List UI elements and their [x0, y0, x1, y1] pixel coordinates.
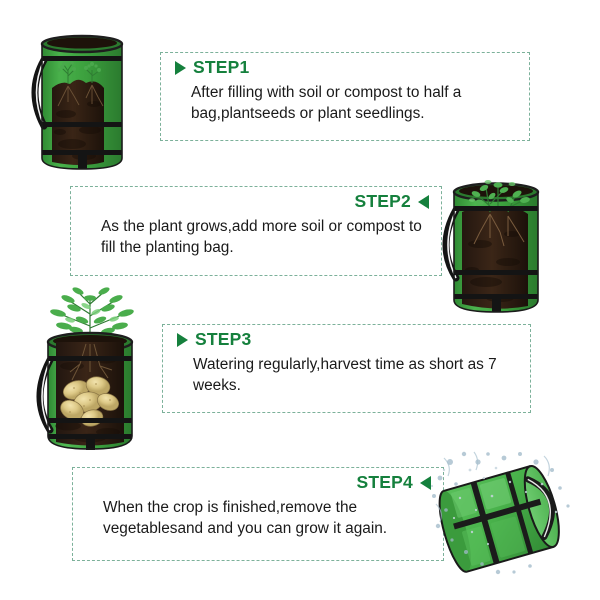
- infographic-root: STEP1 After filling with soil or compost…: [0, 0, 600, 600]
- step-box-3: STEP3 Watering regularly,harvest time as…: [162, 324, 531, 413]
- step-1-label: STEP1: [193, 59, 249, 77]
- step-2-heading: STEP2: [85, 193, 429, 211]
- grow-bag-growing-plant-photo: [432, 166, 558, 318]
- step-3-label: STEP3: [195, 331, 251, 349]
- triangle-left-icon: [418, 195, 429, 209]
- grow-bag-seedlings-photo: [22, 26, 142, 176]
- step-4-heading: STEP4: [87, 474, 431, 492]
- step-1-heading: STEP1: [175, 59, 517, 77]
- step-2-label: STEP2: [355, 193, 411, 211]
- step-1-body: After filling with soil or compost to ha…: [175, 82, 517, 126]
- step-box-2: STEP2 As the plant grows,add more soil o…: [70, 186, 442, 276]
- grow-bag-washing-photo: [426, 448, 578, 588]
- grow-bag-potato-harvest-photo: [24, 286, 156, 458]
- step-4-body: When the crop is finished,remove the veg…: [87, 497, 431, 541]
- triangle-right-icon: [177, 333, 188, 347]
- step-box-4: STEP4 When the crop is finished,remove t…: [72, 467, 444, 561]
- triangle-right-icon: [175, 61, 186, 75]
- step-4-label: STEP4: [357, 474, 413, 492]
- step-3-heading: STEP3: [177, 331, 518, 349]
- step-box-1: STEP1 After filling with soil or compost…: [160, 52, 530, 141]
- step-3-body: Watering regularly,harvest time as short…: [177, 354, 518, 398]
- step-2-body: As the plant grows,add more soil or comp…: [85, 216, 429, 260]
